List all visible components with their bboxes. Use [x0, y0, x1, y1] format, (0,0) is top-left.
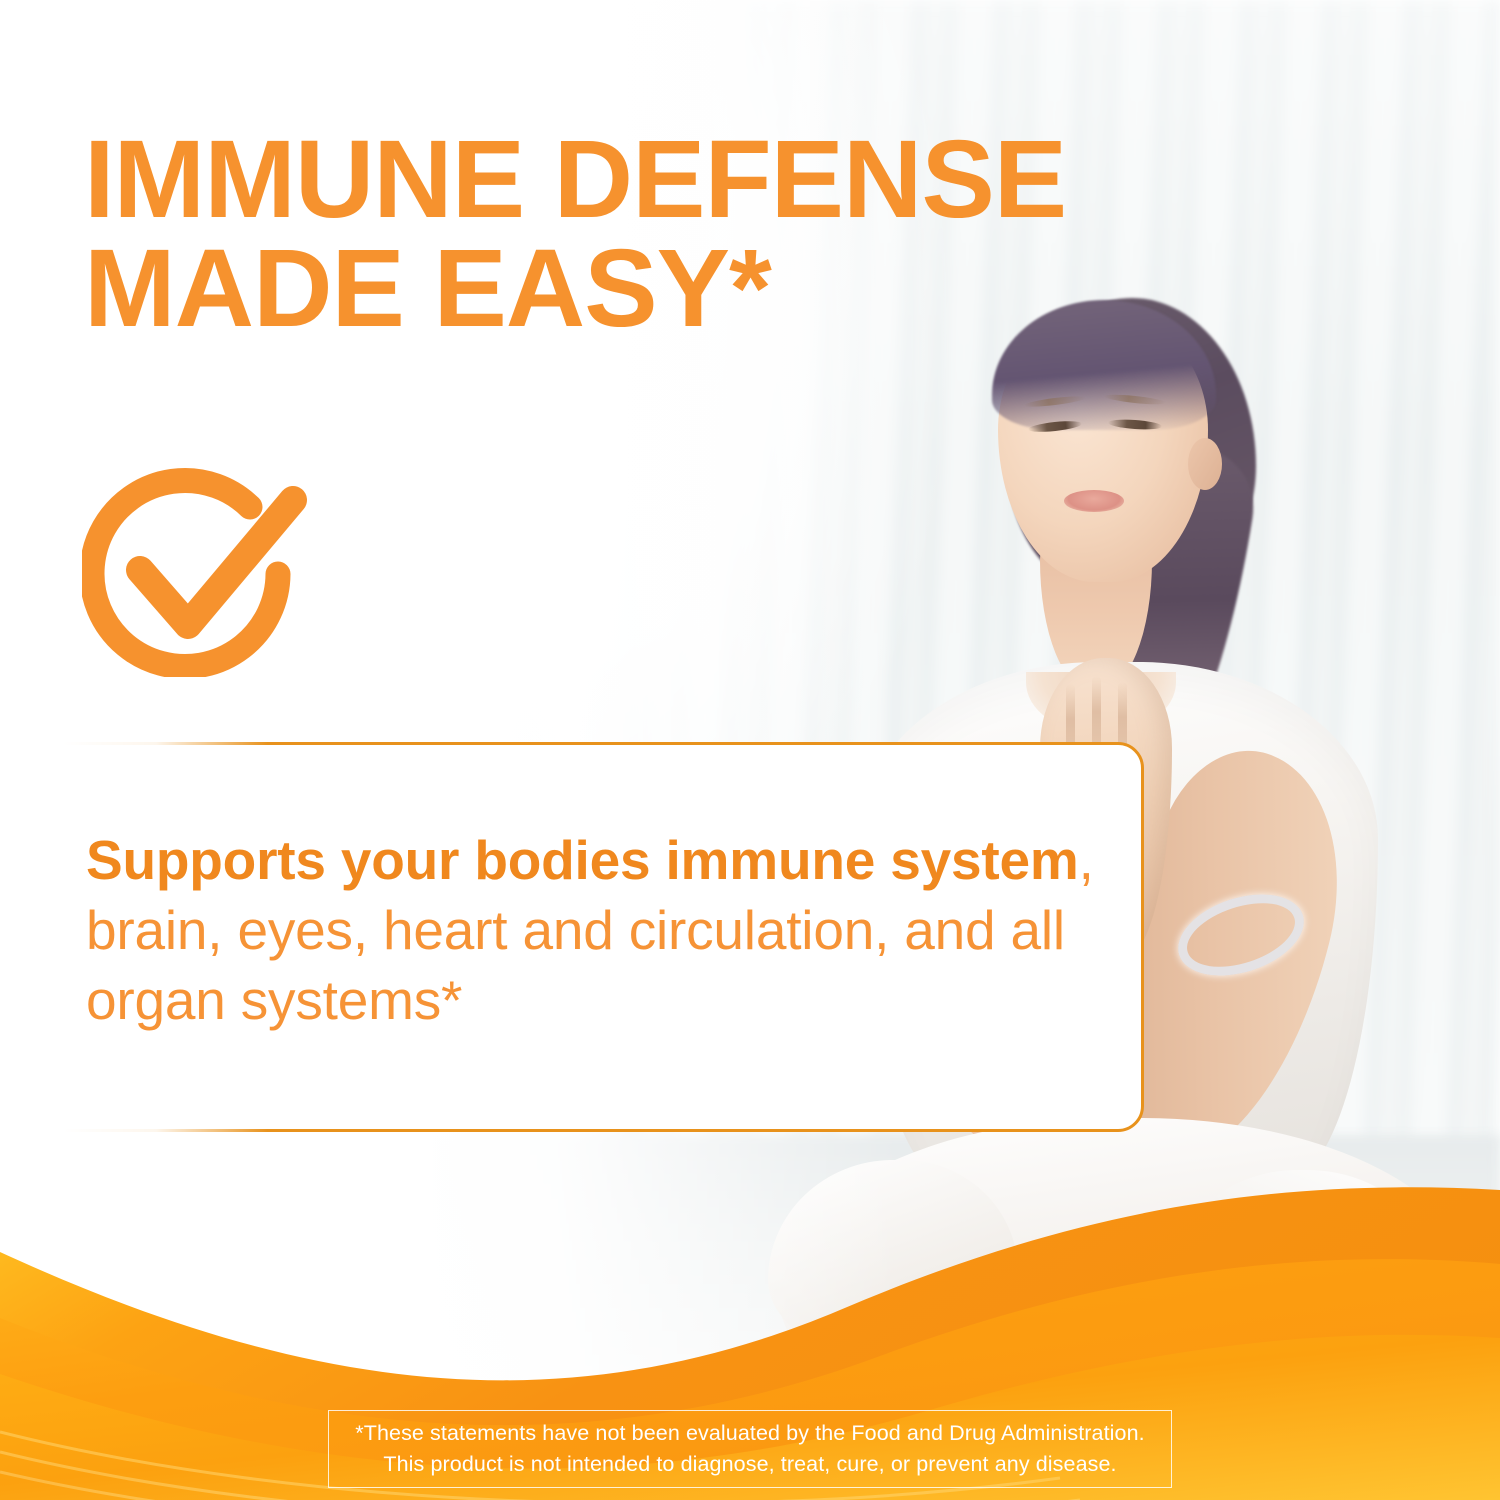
check-circle-icon	[82, 462, 312, 677]
lips	[1064, 490, 1124, 512]
headline-line-1: IMMUNE DEFENSE	[84, 126, 1094, 235]
benefit-card-text: Supports your bodies immune system, brai…	[86, 826, 1096, 1036]
headline: IMMUNE DEFENSE MADE EASY*	[84, 126, 1094, 344]
headline-line-2: MADE EASY*	[84, 235, 1094, 344]
ear	[1188, 438, 1222, 490]
product-lifestyle-banner: IMMUNE DEFENSE MADE EASY* Supports your …	[0, 0, 1500, 1500]
disclaimer-line-2: This product is not intended to diagnose…	[383, 1449, 1116, 1480]
benefit-bold-text: Supports your bodies immune system	[86, 829, 1079, 891]
fda-disclaimer-box: *These statements have not been evaluate…	[328, 1410, 1172, 1488]
disclaimer-line-1: *These statements have not been evaluate…	[355, 1418, 1144, 1449]
